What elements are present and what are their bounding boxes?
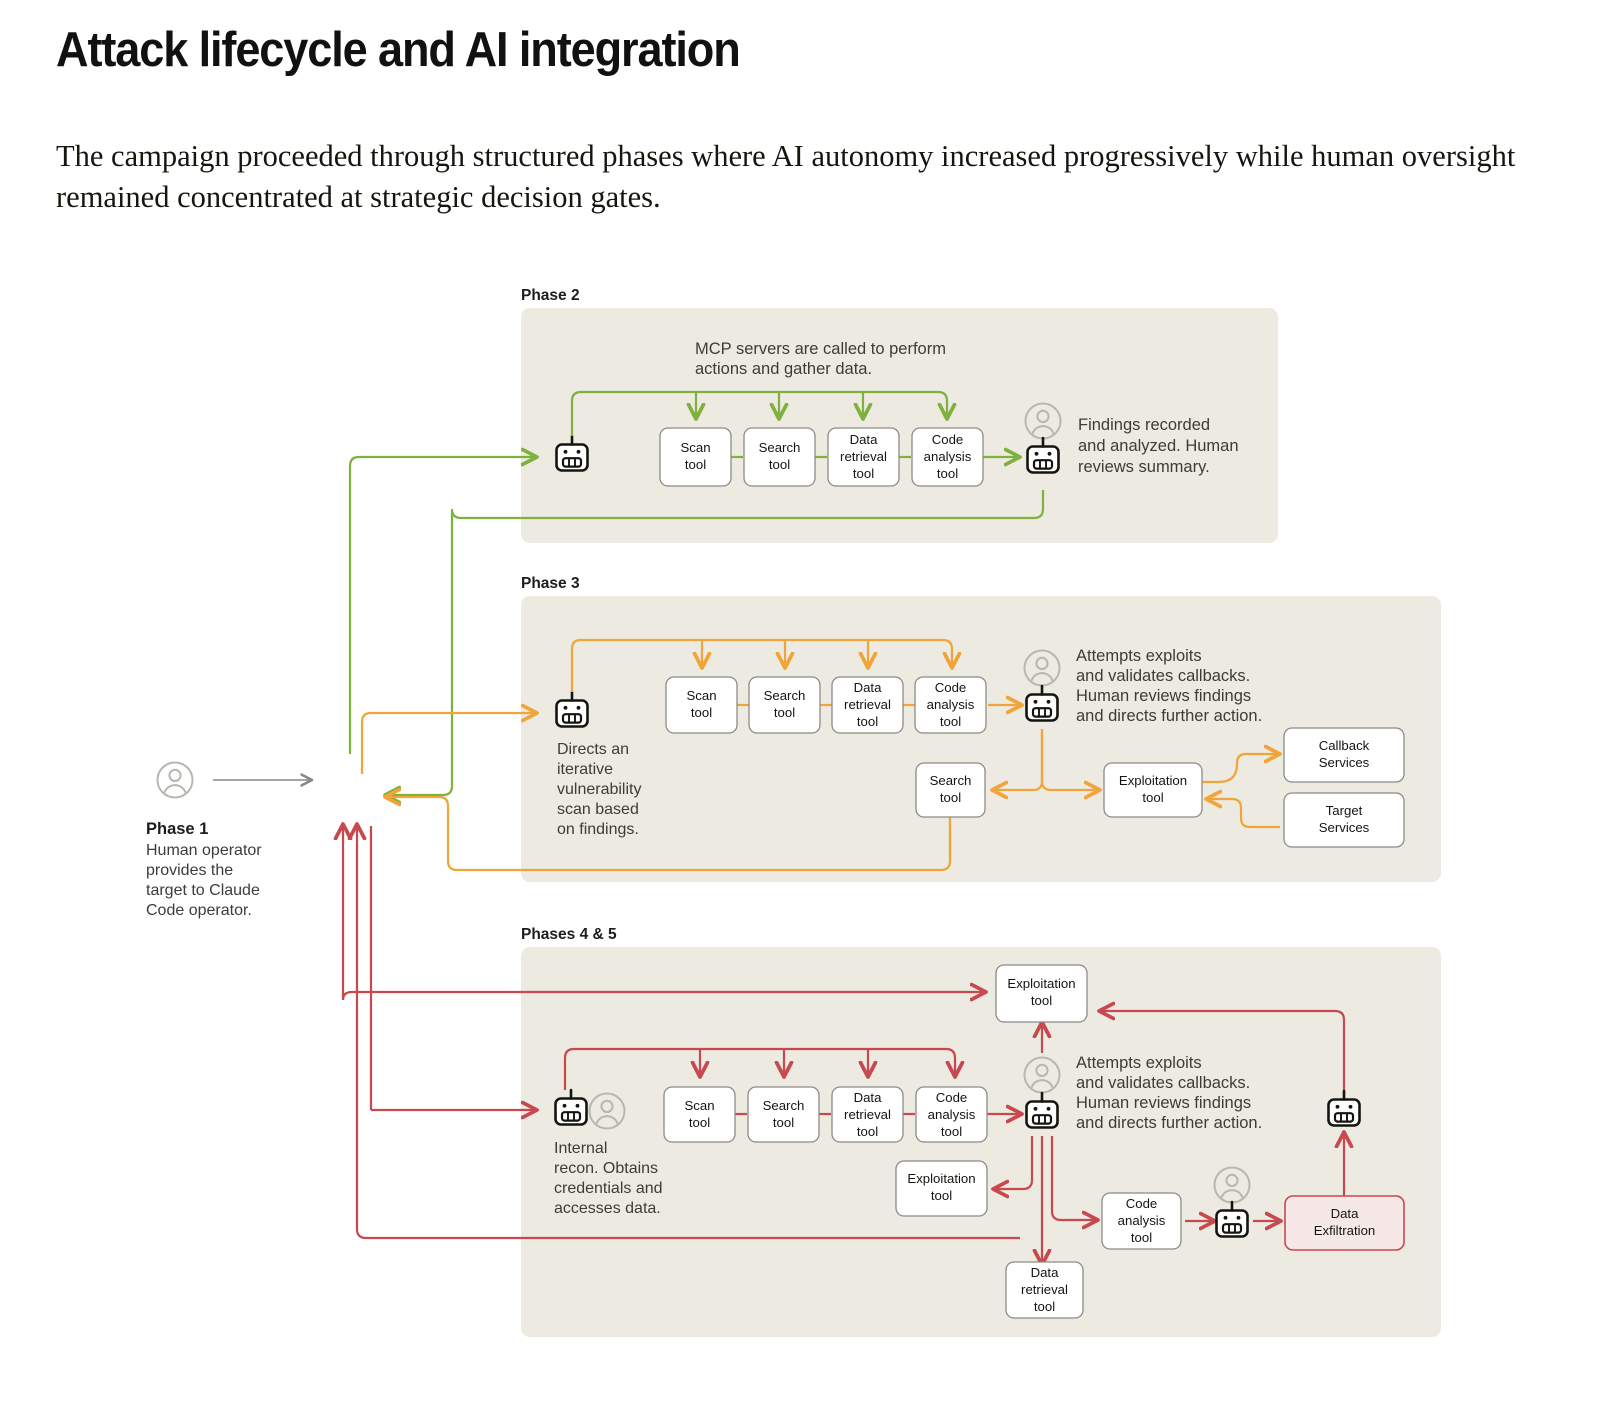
exfil-label-line: Data	[1331, 1206, 1360, 1221]
tool-label-line: Data	[1031, 1265, 1060, 1280]
phase2-tool-3[interactable]: Code analysis tool	[912, 428, 983, 486]
tool-label-line: Services	[1319, 820, 1370, 835]
tool-label-line: Exploitation	[1007, 976, 1075, 991]
tool-label-line: retrieval	[844, 1107, 891, 1122]
tool-label-line: Code	[932, 432, 964, 447]
tool-label-line: tool	[685, 457, 706, 472]
phase3-review-line-2: Human reviews findings	[1076, 687, 1251, 705]
tool-label-line: Data	[850, 432, 879, 447]
phase2-tool-2[interactable]: Data retrieval tool	[828, 428, 899, 486]
tool-label-line: Exploitation	[1119, 773, 1187, 788]
phase1-heading: Phase 1	[146, 820, 208, 838]
phase3-tool-2[interactable]: Data retrieval tool	[832, 677, 903, 733]
tool-label-line: tool	[1142, 790, 1163, 805]
phase45-mid-exploitation-tool[interactable]: Exploitation tool	[896, 1161, 987, 1216]
phase45-tool-0[interactable]: Scan tool	[664, 1087, 735, 1142]
tool-label-line: analysis	[1118, 1213, 1166, 1228]
phase3-agent-line-3: scan based	[557, 801, 639, 818]
phase45-tool-2[interactable]: Data retrieval tool	[832, 1087, 903, 1142]
phase3-tool-0[interactable]: Scan tool	[666, 677, 737, 733]
tool-label-line: Services	[1319, 755, 1370, 770]
phase45-agent-line-0: Internal	[554, 1140, 607, 1157]
tool-label-line: tool	[769, 457, 790, 472]
tool-label-line: retrieval	[844, 697, 891, 712]
tool-label-line: tool	[689, 1115, 710, 1130]
tool-label-line: Target	[1326, 803, 1363, 818]
phase45-agent-line-1: recon. Obtains	[554, 1160, 658, 1177]
tool-label-line: tool	[691, 705, 712, 720]
tool-label-line: Exploitation	[907, 1171, 975, 1186]
phase2-review-line-0: Findings recorded	[1078, 416, 1210, 434]
phase45-agent-line-3: accesses data.	[554, 1200, 661, 1217]
phase3-callback-services[interactable]: Callback Services	[1284, 728, 1404, 782]
phase1-line-1: provides the	[146, 862, 233, 879]
phase45-data-retrieval-tool[interactable]: Data retrieval tool	[1006, 1262, 1083, 1318]
phase1-group: Phase 1 Human operator provides the targ…	[146, 763, 312, 920]
phase1-line-3: Code operator.	[146, 902, 252, 919]
person-icon	[158, 763, 193, 798]
attack-lifecycle-diagram: Phase 2 Phase 3 Phases 4 & 5 Phase 1 Hum…	[0, 0, 1598, 1408]
phase45-tool-3[interactable]: Code analysis tool	[916, 1087, 987, 1142]
phase45-label: Phases 4 & 5	[521, 926, 617, 943]
tool-label-line: Data	[854, 680, 883, 695]
tool-label-line: tool	[937, 466, 958, 481]
diagram-page: Attack lifecycle and AI integration The …	[0, 0, 1598, 1408]
tool-label-line: Search	[763, 1098, 805, 1113]
tool-label-line: Code	[936, 1090, 968, 1105]
tool-label-line: Scan	[686, 688, 716, 703]
phase1-line-0: Human operator	[146, 842, 262, 859]
phase2-label: Phase 2	[521, 287, 580, 304]
phase3-search-tool[interactable]: Search tool	[916, 763, 985, 817]
tool-label-line: Data	[854, 1090, 883, 1105]
tool-label-line: Search	[764, 688, 806, 703]
tool-label-line: Search	[759, 440, 801, 455]
tool-label-line: analysis	[928, 1107, 976, 1122]
phase45-code-analysis-tool[interactable]: Code analysis tool	[1102, 1193, 1181, 1249]
phase3-agent-line-4: on findings.	[557, 821, 639, 838]
tool-label-line: tool	[940, 714, 961, 729]
tool-label-line: tool	[1131, 1230, 1152, 1245]
tool-label-line: analysis	[927, 697, 975, 712]
phase2-tool-1[interactable]: Search tool	[744, 428, 815, 486]
phase2-note-line-1: actions and gather data.	[695, 360, 872, 378]
phase3-target-services[interactable]: Target Services	[1284, 793, 1404, 847]
tool-label-line: tool	[853, 466, 874, 481]
tool-label-line: tool	[857, 714, 878, 729]
tool-label-line: tool	[774, 705, 795, 720]
phase3-agent-line-2: vulnerability	[557, 781, 641, 798]
phase2-note-line-0: MCP servers are called to perform	[695, 340, 946, 358]
tool-label-line: tool	[857, 1124, 878, 1139]
tool-label-line: tool	[1031, 993, 1052, 1008]
tool-label-line: Callback	[1319, 738, 1370, 753]
phase45-data-exfiltration[interactable]: Data Exfiltration	[1285, 1196, 1404, 1250]
phase2-review-line-1: and analyzed. Human	[1078, 437, 1239, 455]
phase45-review-line-2: Human reviews findings	[1076, 1094, 1251, 1112]
phase3-tool-1[interactable]: Search tool	[749, 677, 820, 733]
phase3-review-line-3: and directs further action.	[1076, 707, 1262, 725]
phase2-panel: Phase 2	[521, 287, 1278, 543]
phase45-top-exploitation-tool[interactable]: Exploitation tool	[996, 965, 1087, 1022]
phase3-agent-line-1: iterative	[557, 761, 613, 778]
phase3-review-line-0: Attempts exploits	[1076, 647, 1202, 665]
phase45-review-line-0: Attempts exploits	[1076, 1054, 1202, 1072]
tool-label-line: tool	[940, 790, 961, 805]
tool-label-line: tool	[1034, 1299, 1055, 1314]
phase3-exploitation-tool[interactable]: Exploitation tool	[1104, 763, 1202, 817]
tool-label-line: retrieval	[840, 449, 887, 464]
phase2-tool-0[interactable]: Scan tool	[660, 428, 731, 486]
phase1-line-2: target to Claude	[146, 882, 260, 899]
tool-label-line: analysis	[924, 449, 972, 464]
phase3-tool-3[interactable]: Code analysis tool	[915, 677, 986, 733]
phase3-review-line-1: and validates callbacks.	[1076, 667, 1250, 685]
tool-label-line: retrieval	[1021, 1282, 1068, 1297]
tool-label-line: Search	[930, 773, 972, 788]
phase45-tool-1[interactable]: Search tool	[748, 1087, 819, 1142]
exfil-label-line: Exfiltration	[1314, 1223, 1376, 1238]
phase3-label: Phase 3	[521, 575, 580, 592]
tool-label-line: Code	[935, 680, 967, 695]
tool-label-line: Scan	[684, 1098, 714, 1113]
phase2-review-line-2: reviews summary.	[1078, 458, 1210, 476]
tool-label-line: tool	[931, 1188, 952, 1203]
tool-label-line: tool	[773, 1115, 794, 1130]
phase45-review-line-1: and validates callbacks.	[1076, 1074, 1250, 1092]
tool-label-line: tool	[941, 1124, 962, 1139]
phase45-agent-line-2: credentials and	[554, 1180, 663, 1197]
phase45-review-line-3: and directs further action.	[1076, 1114, 1262, 1132]
phase3-agent-line-0: Directs an	[557, 741, 629, 758]
tool-label-line: Scan	[680, 440, 710, 455]
tool-label-line: Code	[1126, 1196, 1158, 1211]
